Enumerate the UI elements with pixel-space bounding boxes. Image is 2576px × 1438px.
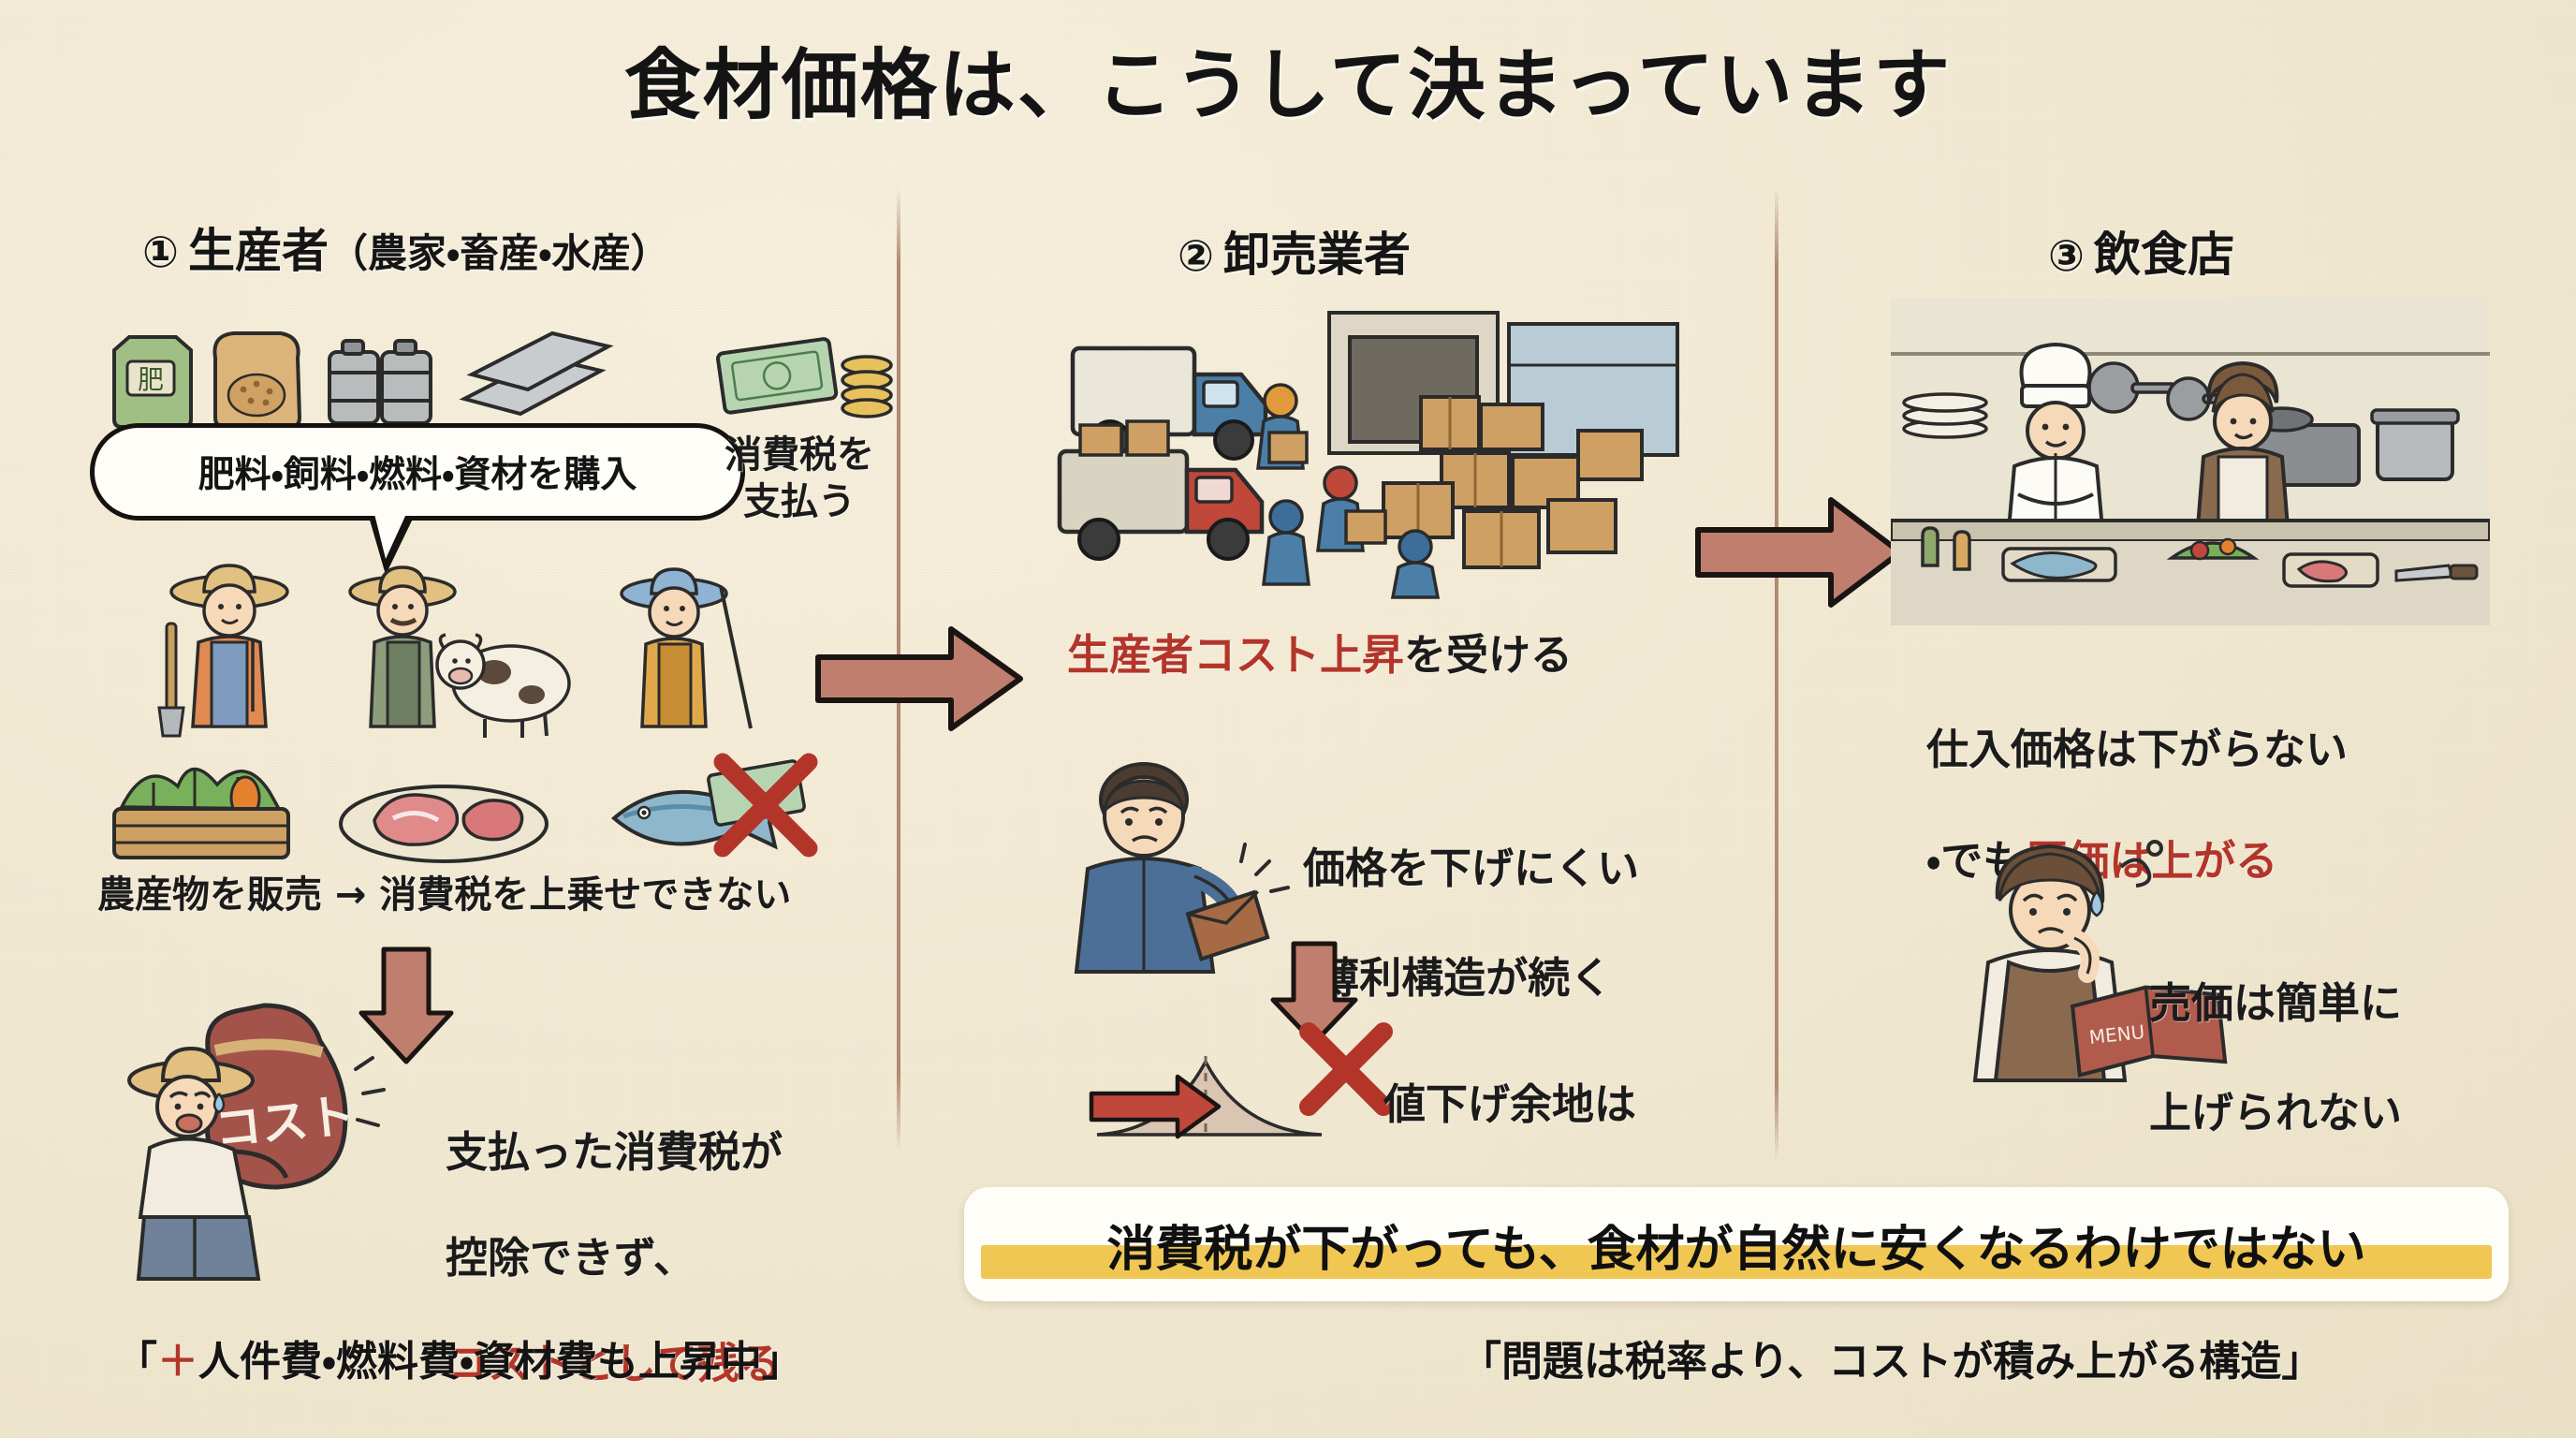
supplies-illustration: 肥 (101, 309, 681, 435)
restaurant-price-line-2: 上げられない (2149, 1086, 2402, 1141)
conclusion-text: 消費税が下がっても、食材が自然に安くなるわけではない (1099, 1210, 2373, 1280)
svg-text:肥: 肥 (138, 364, 164, 395)
wholesaler-receive-black: を受ける (1404, 630, 1573, 680)
column-divider-2 (1775, 187, 1778, 1161)
page-title: 食材価格は、こうして決まっています (0, 22, 2576, 134)
flow-arrow-producer-to-wholesaler-icon (812, 618, 1028, 740)
footnote-close-quote: 」 (762, 1338, 803, 1386)
footnote-plus-sign: ＋ (157, 1338, 198, 1386)
sell-produce-note: 農産物を販売 → 消費税を上乗せできない (97, 873, 791, 919)
restaurant-price-line-1: 売価は簡単に (2149, 976, 2402, 1032)
column-label-1: 生産者 (188, 224, 329, 278)
cost-bag-farmer-illustration: コスト (122, 983, 440, 1292)
column-header-producer: ①生産者（農家・畜産・水産） (142, 213, 670, 281)
producer-result-line-1: 支払った消費税が (446, 1126, 783, 1180)
footnote-body: 人件費・燃料費・資材費も上昇中 (198, 1338, 762, 1386)
conclusion-footnote: 「問題は税率より、コストが積み上がる構造」 (1460, 1328, 2322, 1387)
purchase-bubble-text: 肥料・飼料・燃料・資材を購入 (198, 446, 637, 498)
producer-result-line-2: 控除できず、 (446, 1232, 783, 1285)
trucks-boxes-illustration (1048, 300, 1704, 609)
farmers-illustration (140, 552, 852, 758)
purchase-speech-bubble: 肥料・飼料・燃料・資材を購入 (90, 423, 745, 521)
consumption-tax-note: 消費税を 支払う (696, 433, 902, 525)
money-illustration (711, 318, 908, 440)
wholesaler-margin-line-1: 価格を下げにくい (1303, 842, 1639, 897)
x-mark-producer-icon (695, 740, 835, 871)
column-header-wholesaler: ②卸売業者 (1178, 217, 1411, 285)
column-number-1: ① (142, 227, 179, 277)
producer-footnote: 「＋人件費・燃料費・資材費も上昇中」 (116, 1328, 803, 1387)
column-header-restaurant: ③飲食店 (2048, 217, 2234, 285)
wholesaler-nodiscount-line-1: 値下げ余地は (1383, 1078, 1636, 1133)
conclusion-banner: 消費税が下がっても、食材が自然に安くなるわけではない (964, 1187, 2509, 1301)
column-label-2: 卸売業者 (1223, 227, 1411, 282)
wallet-man-illustration (1039, 758, 1301, 1002)
footnote-open-quote: 「 (116, 1338, 157, 1386)
restaurant-kitchen-illustration (1891, 298, 2490, 635)
wholesaler-receive-cost-text: 生産者コスト上昇を受ける (1067, 629, 1573, 682)
column-number-3: ③ (2048, 230, 2085, 281)
column-number-2: ② (1178, 230, 1214, 281)
column-sublabel-1: （農家・畜産・水産） (329, 230, 670, 276)
flow-arrow-wholesaler-to-restaurant-icon (1692, 487, 1908, 618)
wholesaler-receive-red: 生産者コスト上昇 (1067, 630, 1404, 680)
column-label-3: 飲食店 (2094, 227, 2234, 282)
restaurant-price-text: 売価は簡単に 上げられない (2149, 921, 2402, 1196)
restaurant-purchase-line-1: 仕入価格は下がらない (1926, 722, 2348, 777)
